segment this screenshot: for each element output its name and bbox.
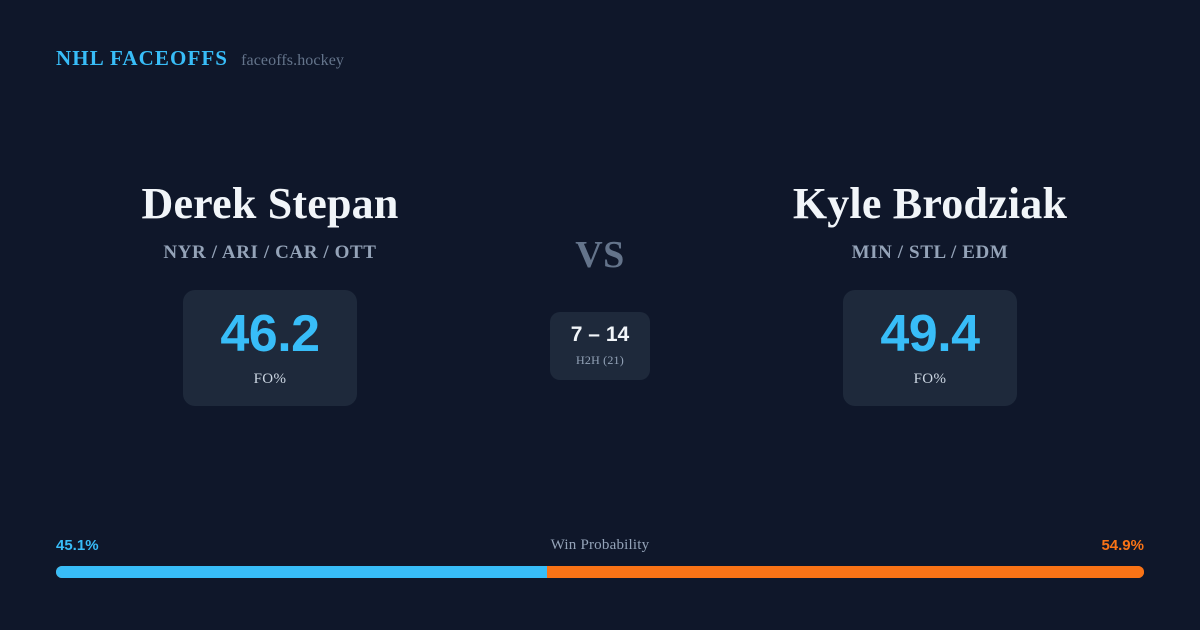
stat-label-left: FO% [254,371,287,388]
player-name-left: Derek Stepan [141,178,398,230]
win-probability-bar-right-segment [547,566,1144,578]
player-teams-left: NYR / ARI / CAR / OTT [163,242,376,264]
versus-label: VS [575,236,625,274]
brand-domain: faceoffs.hockey [241,53,344,69]
stat-value-left: 46.2 [220,308,319,360]
win-probability-section: 45.1% Win Probability 54.9% [56,536,1144,578]
win-probability-right-value: 54.9% [1101,536,1144,556]
win-probability-title: Win Probability [56,536,1144,556]
stat-label-right: FO% [914,371,947,388]
win-probability-bar-left-segment [56,566,547,578]
brand-header: NHL FACEOFFS faceoffs.hockey [56,48,344,69]
win-probability-labels: 45.1% Win Probability 54.9% [56,536,1144,556]
player-teams-right: MIN / STL / EDM [852,242,1009,264]
player-card-right: Kyle Brodziak MIN / STL / EDM 49.4 FO% [700,178,1160,406]
player-name-right: Kyle Brodziak [793,178,1067,230]
stat-card-left: 46.2 FO% [183,290,357,406]
head-to-head-label: H2H (21) [576,353,624,368]
head-to-head-badge: 7 – 14 H2H (21) [550,312,650,380]
win-probability-bar [56,566,1144,578]
brand-title: NHL FACEOFFS [56,48,228,69]
versus-block: VS 7 – 14 H2H (21) [500,178,700,380]
matchup-row: Derek Stepan NYR / ARI / CAR / OTT 46.2 … [0,178,1200,406]
stat-value-right: 49.4 [880,308,979,360]
player-card-left: Derek Stepan NYR / ARI / CAR / OTT 46.2 … [40,178,500,406]
head-to-head-score: 7 – 14 [571,324,629,345]
stat-card-right: 49.4 FO% [843,290,1017,406]
